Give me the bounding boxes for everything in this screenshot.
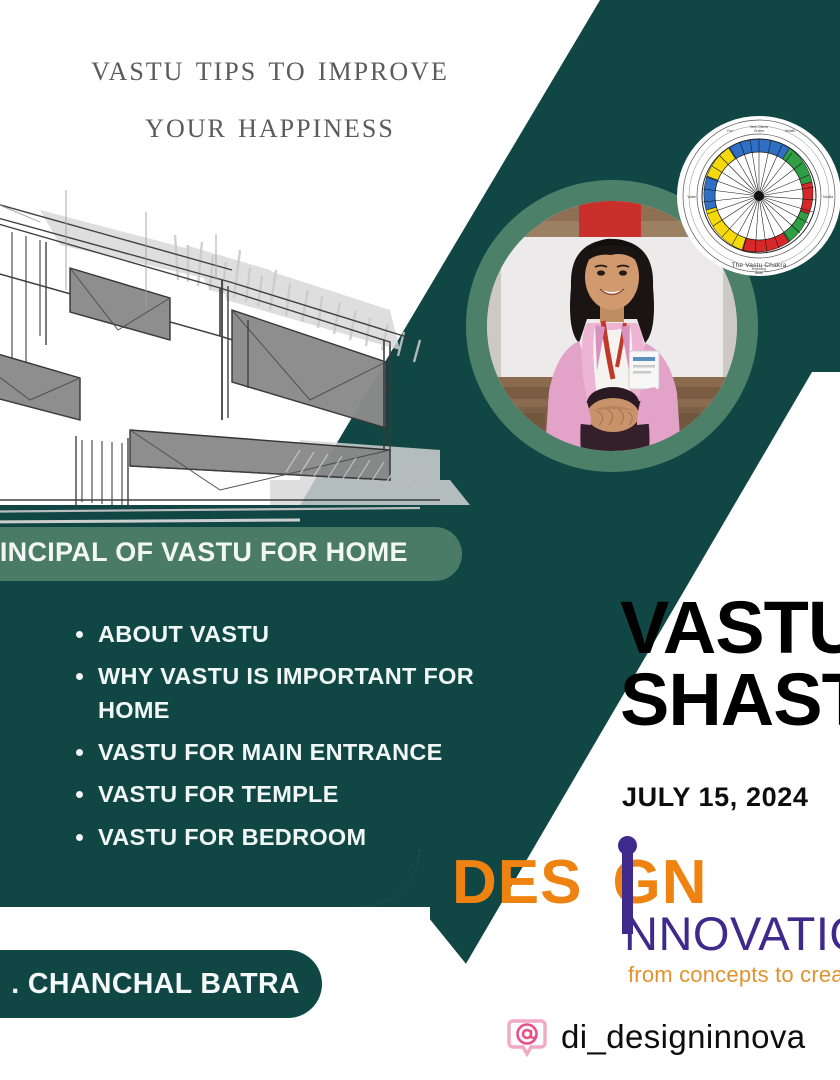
instagram-row[interactable]: di_designinnova: [506, 1016, 806, 1058]
poster-headline: Vastu Tips To Improve Your Happiness: [0, 40, 540, 155]
svg-text:Water: Water: [688, 195, 698, 199]
svg-text:Wealth: Wealth: [785, 129, 796, 133]
design-innovation-logo: DESGN NNOVATION from concepts to creat: [452, 852, 840, 972]
list-item: VASTU FOR TEMPLE: [72, 778, 532, 811]
instagram-handle: di_designinnova: [561, 1018, 806, 1056]
vastu-shastra-poster: Vastu Tips To Improve Your Happiness: [0, 0, 840, 1080]
instagram-at-bubble-icon: [506, 1016, 548, 1058]
chakra-caption: The Vastu Chakra: [676, 262, 840, 269]
speaker-name-pill: . CHANCHAL BATRA: [0, 950, 322, 1018]
svg-text:away: away: [755, 271, 763, 275]
logo-tagline: from concepts to creat: [628, 962, 840, 988]
list-item: VASTU FOR MAIN ENTRANCE: [72, 736, 532, 769]
event-title-line-2: SHASTRA: [620, 664, 840, 736]
svg-text:Mahila: Mahila: [823, 195, 833, 199]
svg-text:Fun: Fun: [727, 129, 733, 133]
svg-text:Orders: Orders: [754, 129, 765, 133]
logo-innovation-text: NNOVATION: [624, 910, 840, 957]
event-date: JULY 15, 2024: [622, 782, 840, 813]
list-item: ABOUT VASTU: [72, 618, 532, 651]
event-title-line-1: VASTU: [620, 586, 840, 669]
event-title: VASTU SHASTRA: [620, 592, 840, 736]
headline-line-1: Vastu Tips To Improve: [0, 40, 540, 97]
section-banner: C PRINCIPAL OF VASTU FOR HOME: [0, 527, 462, 581]
logo-design-head: DES: [452, 848, 582, 917]
logo-design-text: DESGN: [452, 852, 707, 914]
list-item: WHY VASTU IS IMPORTANT FOR HOME: [72, 660, 532, 727]
headline-line-2: Your Happiness: [0, 97, 540, 154]
architectural-sketch: [0, 150, 490, 530]
topic-list: ABOUT VASTU WHY VASTU IS IMPORTANT FOR H…: [48, 618, 532, 863]
